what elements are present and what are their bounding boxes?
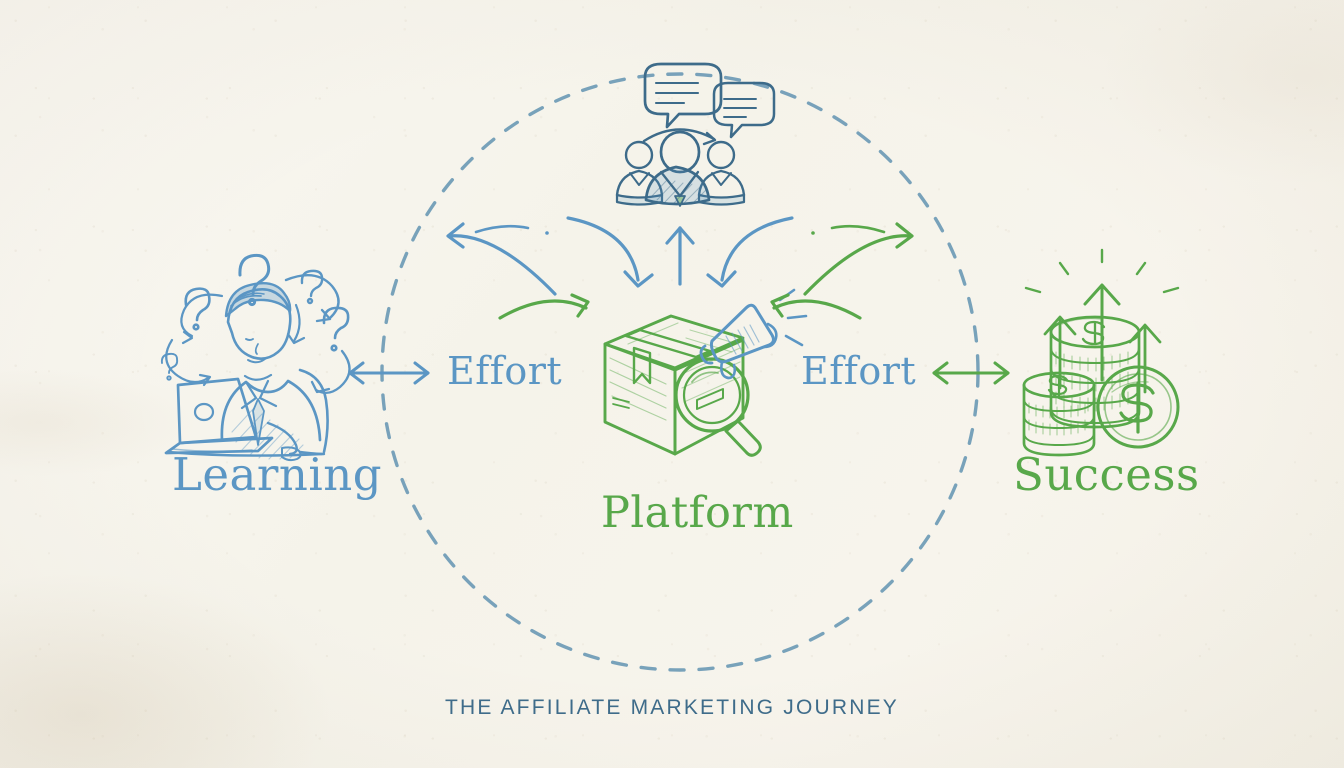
double-headed-arrow-icon — [350, 363, 428, 383]
infographic-canvas: Learning Platform Success Effort Effort … — [0, 0, 1344, 768]
curved-arrow-icon — [568, 218, 652, 286]
three-people-with-speech-bubbles-icon — [617, 64, 774, 206]
diagram-svg — [0, 0, 1344, 768]
coin-stacks-with-dollar-and-up-arrows-icon — [1024, 250, 1178, 455]
curved-arrow-icon — [500, 295, 588, 318]
curved-arrow-icon — [805, 224, 912, 294]
curved-arrow-icon — [708, 218, 792, 286]
diagram-caption: THE AFFILIATE MARKETING JOURNEY — [0, 696, 1344, 720]
curved-arrow-icon — [448, 224, 555, 294]
double-headed-arrow-icon — [934, 363, 1008, 383]
person-at-laptop-with-question-marks-icon — [162, 255, 350, 460]
connector-label-effort-left: Effort — [447, 352, 562, 390]
node-label-platform: Platform — [601, 492, 794, 535]
node-label-success: Success — [1013, 452, 1200, 497]
node-label-learning: Learning — [172, 452, 382, 497]
connector-label-effort-right: Effort — [801, 352, 916, 390]
package-box-magnifier-megaphone-icon — [605, 290, 806, 455]
straight-up-arrow-icon — [667, 228, 693, 284]
curved-arrow-icon — [772, 295, 860, 318]
